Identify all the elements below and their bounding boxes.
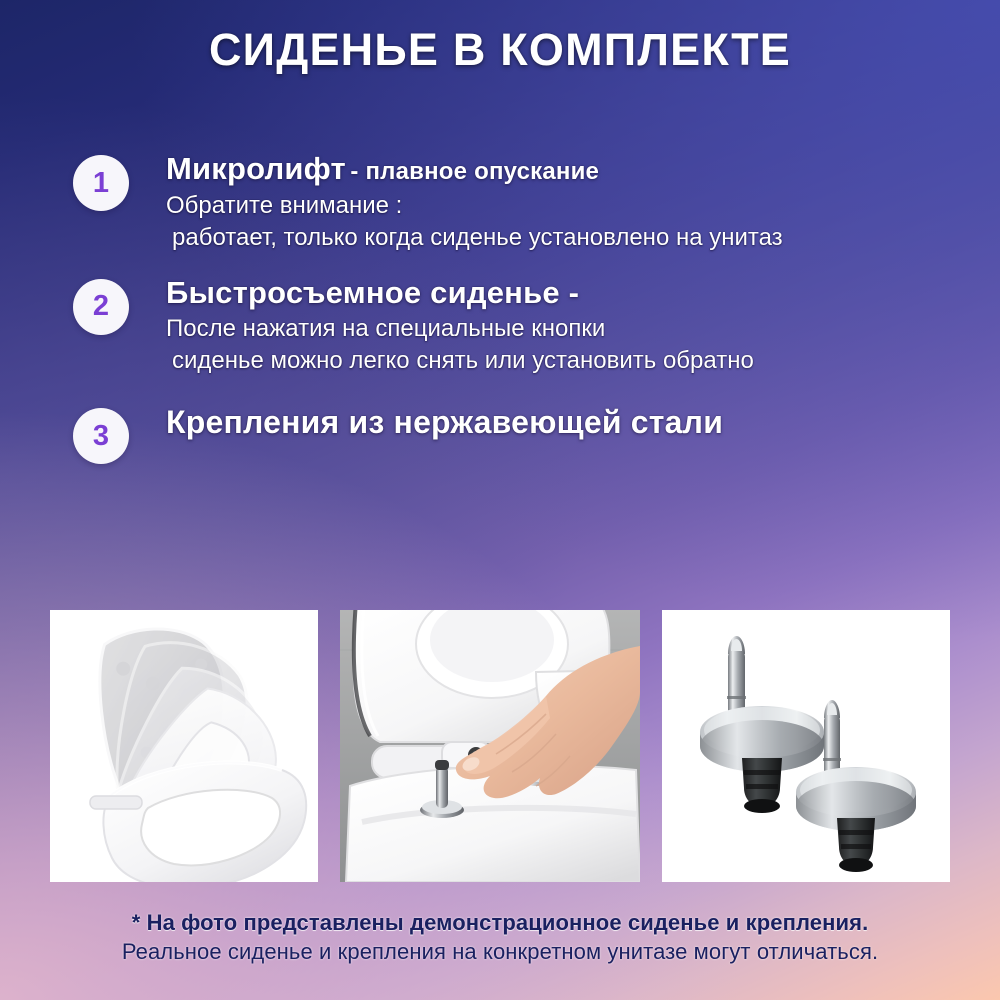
feature-body-1: Микролифт - плавное опускание Обратите в… xyxy=(166,152,783,254)
photo-toilet-seat-softclose-motion xyxy=(50,610,318,882)
feature-number-badge-3: 3 xyxy=(73,408,129,464)
feature-title-1: Микролифт xyxy=(166,151,346,186)
feature-heading-3: Крепления из нержавеющей стали xyxy=(166,405,723,441)
feature-number-badge-2: 2 xyxy=(73,279,129,335)
feature-note-2-line-2: сиденье можно легко снять или установить… xyxy=(166,345,754,377)
page-title: СИДЕНЬЕ В КОМПЛЕКТЕ xyxy=(0,24,1000,76)
feature-item-1: 1 Микролифт - плавное опускание Обратите… xyxy=(0,152,1000,254)
feature-heading-1: Микролифт - плавное опускание xyxy=(166,152,783,187)
feature-item-2: 2 Быстросъемное сиденье - После нажатия … xyxy=(0,276,1000,378)
feature-note-1-line-1: Обратите внимание : xyxy=(166,190,783,222)
photo-hand-releasing-seat xyxy=(340,610,640,882)
promo-banner: СИДЕНЬЕ В КОМПЛЕКТЕ 1 Микролифт - плавно… xyxy=(0,0,1000,1000)
feature-note-2-line-1: После нажатия на специальные кнопки xyxy=(166,313,754,345)
feature-title-3: Крепления из нержавеющей стали xyxy=(166,404,723,440)
feature-note-1-line-2: работает, только когда сиденье установле… xyxy=(166,222,783,254)
footer-disclaimer: * На фото представлены демонстрационное … xyxy=(0,908,1000,967)
feature-list: 1 Микролифт - плавное опускание Обратите… xyxy=(0,152,1000,464)
footer-disclaimer-line-2: Реальное сиденье и крепления на конкретн… xyxy=(0,937,1000,967)
feature-title-2: Быстросъемное сиденье - xyxy=(166,275,579,310)
photo-strip xyxy=(50,610,950,882)
feature-heading-2: Быстросъемное сиденье - xyxy=(166,276,754,311)
feature-body-3: Крепления из нержавеющей стали xyxy=(166,405,723,444)
feature-subtitle-1: - плавное опускание xyxy=(350,158,599,185)
feature-item-3: 3 Крепления из нержавеющей стали xyxy=(0,405,1000,444)
feature-number-badge-1: 1 xyxy=(73,155,129,211)
photo-stainless-steel-fixings xyxy=(662,610,950,882)
footer-disclaimer-line-1: * На фото представлены демонстрационное … xyxy=(0,908,1000,937)
feature-body-2: Быстросъемное сиденье - После нажатия на… xyxy=(166,276,754,378)
